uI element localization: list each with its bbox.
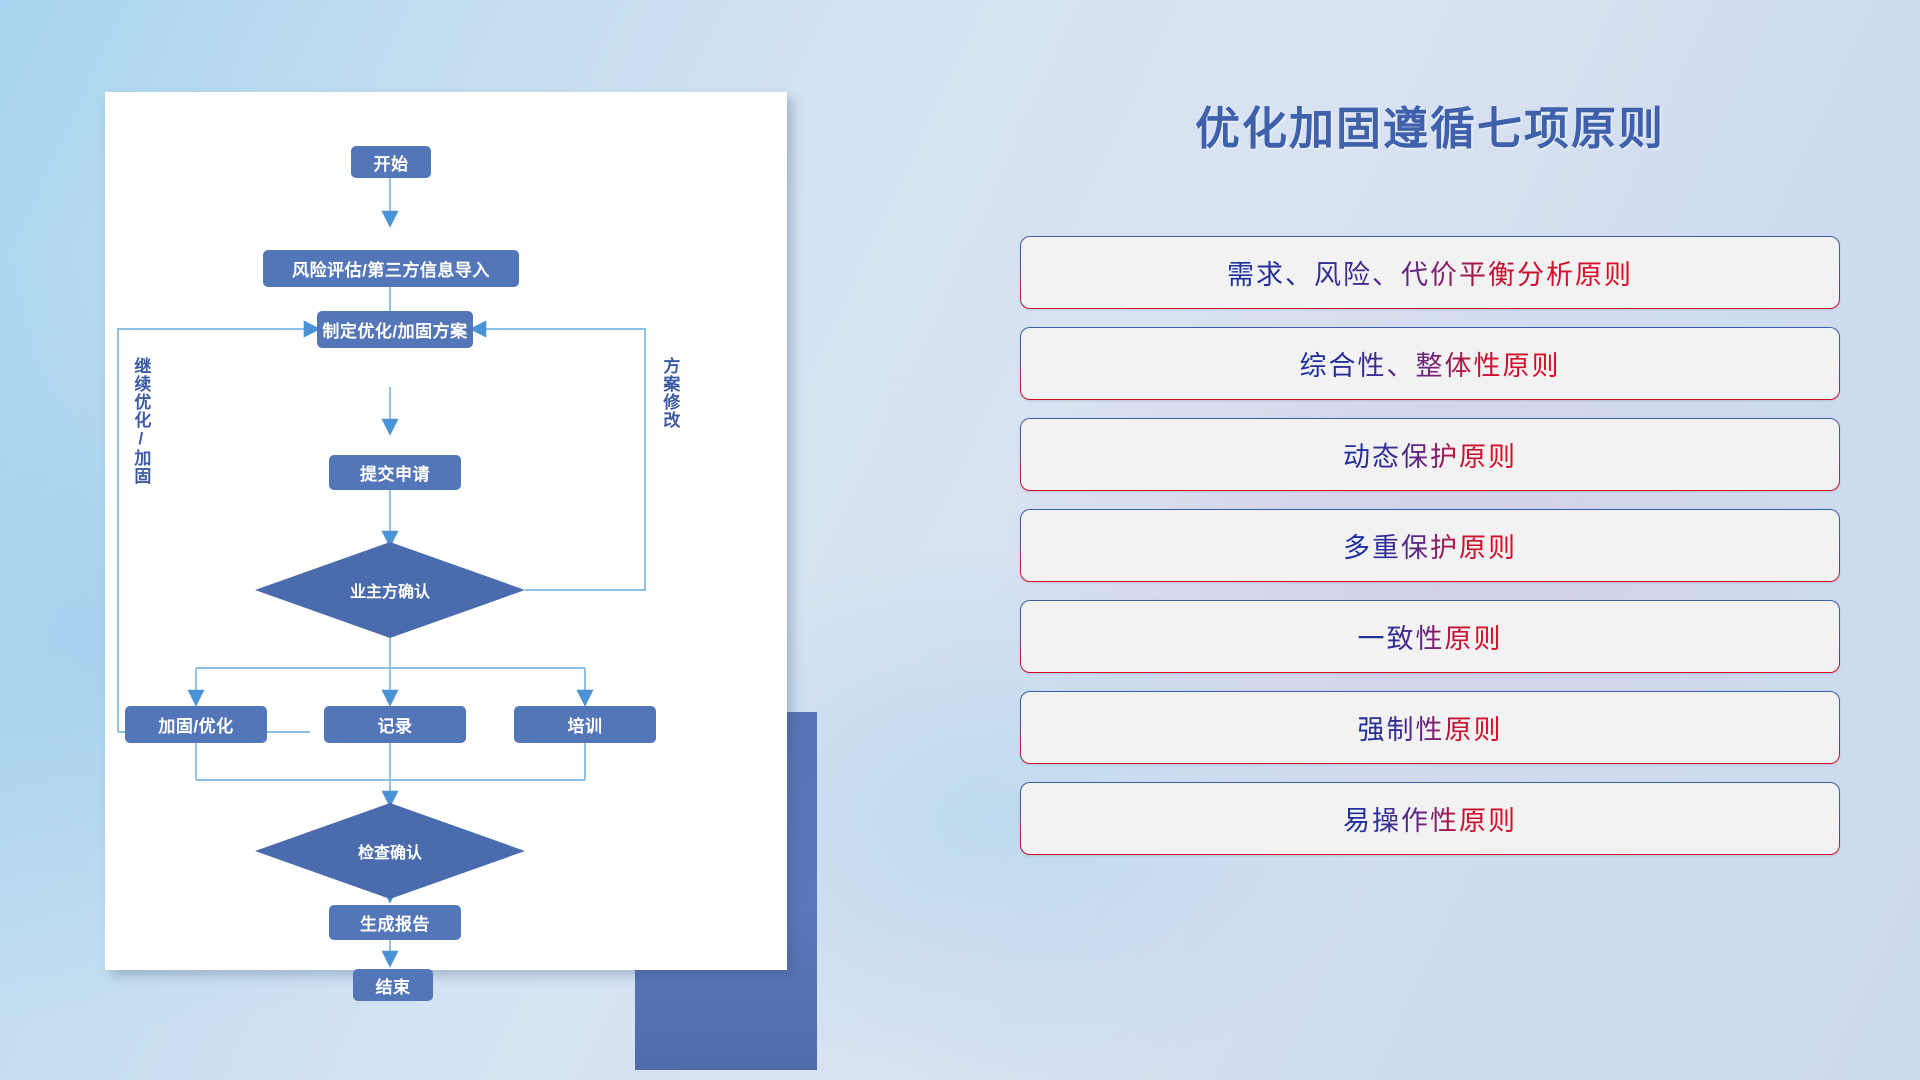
principle-card[interactable]: 一致性原则 xyxy=(1020,600,1840,673)
flow-node-reinforce[interactable]: 加固/优化 xyxy=(125,706,267,743)
principle-card[interactable]: 强制性原则 xyxy=(1020,691,1840,764)
principle-card-label: 动态保护原则 xyxy=(1343,435,1517,474)
flow-decision-check-confirm[interactable]: 检查确认 xyxy=(255,803,525,899)
panel-title: 优化加固遵循七项原则 xyxy=(1020,92,1840,157)
flow-node-risk-assessment[interactable]: 风险评估/第三方信息导入 xyxy=(263,250,519,287)
flow-edge-label-plan-revision: 方案修改 xyxy=(661,357,678,429)
flow-node-label: 开始 xyxy=(374,150,409,175)
principle-card[interactable]: 易操作性原则 xyxy=(1020,782,1840,855)
flow-node-label: 加固/优化 xyxy=(158,712,233,737)
flow-node-record[interactable]: 记录 xyxy=(324,706,466,743)
principle-card-label: 综合性、整体性原则 xyxy=(1300,344,1561,383)
principle-card[interactable]: 需求、风险、代价平衡分析原则 xyxy=(1020,236,1840,309)
flow-node-label: 培训 xyxy=(568,712,603,737)
flow-node-label: 记录 xyxy=(378,712,413,737)
principles-panel: 优化加固遵循七项原则 需求、风险、代价平衡分析原则 综合性、整体性原则 动态保护… xyxy=(1020,92,1840,1002)
principle-card[interactable]: 多重保护原则 xyxy=(1020,509,1840,582)
flow-node-label: 制定优化/加固方案 xyxy=(322,317,467,342)
flow-node-generate-report[interactable]: 生成报告 xyxy=(329,905,461,940)
flow-node-make-plan[interactable]: 制定优化/加固方案 xyxy=(317,311,473,348)
principle-card-label: 强制性原则 xyxy=(1358,708,1503,747)
flow-node-label: 风险评估/第三方信息导入 xyxy=(292,256,490,281)
principle-card-label: 需求、风险、代价平衡分析原则 xyxy=(1227,253,1633,292)
flow-node-label: 结束 xyxy=(376,973,411,998)
principle-card-label: 一致性原则 xyxy=(1358,617,1503,656)
principle-card[interactable]: 动态保护原则 xyxy=(1020,418,1840,491)
flowchart-panel: 开始 风险评估/第三方信息导入 制定优化/加固方案 提交申请 业主方确认 加固/… xyxy=(105,92,787,970)
slide-canvas: 开始 风险评估/第三方信息导入 制定优化/加固方案 提交申请 业主方确认 加固/… xyxy=(0,0,1920,1080)
principle-card-label: 多重保护原则 xyxy=(1343,526,1517,565)
flow-node-end[interactable]: 结束 xyxy=(353,969,433,1001)
flow-node-label: 检查确认 xyxy=(358,839,422,863)
principle-card[interactable]: 综合性、整体性原则 xyxy=(1020,327,1840,400)
principles-card-list: 需求、风险、代价平衡分析原则 综合性、整体性原则 动态保护原则 多重保护原则 一… xyxy=(1020,236,1840,873)
flow-node-label: 生成报告 xyxy=(360,910,430,935)
flow-decision-owner-confirm[interactable]: 业主方确认 xyxy=(255,542,525,638)
flow-node-training[interactable]: 培训 xyxy=(514,706,656,743)
flow-node-submit-application[interactable]: 提交申请 xyxy=(329,455,461,490)
flow-edge-label-continue-optimize: 继续优化/加固 xyxy=(132,357,149,485)
principle-card-label: 易操作性原则 xyxy=(1343,799,1517,838)
flow-node-start[interactable]: 开始 xyxy=(351,146,431,178)
flow-node-label: 业主方确认 xyxy=(350,578,430,602)
flow-node-label: 提交申请 xyxy=(360,460,430,485)
flowchart-card: 开始 风险评估/第三方信息导入 制定优化/加固方案 提交申请 业主方确认 加固/… xyxy=(105,92,787,970)
flowchart-diagram: 开始 风险评估/第三方信息导入 制定优化/加固方案 提交申请 业主方确认 加固/… xyxy=(105,92,787,970)
